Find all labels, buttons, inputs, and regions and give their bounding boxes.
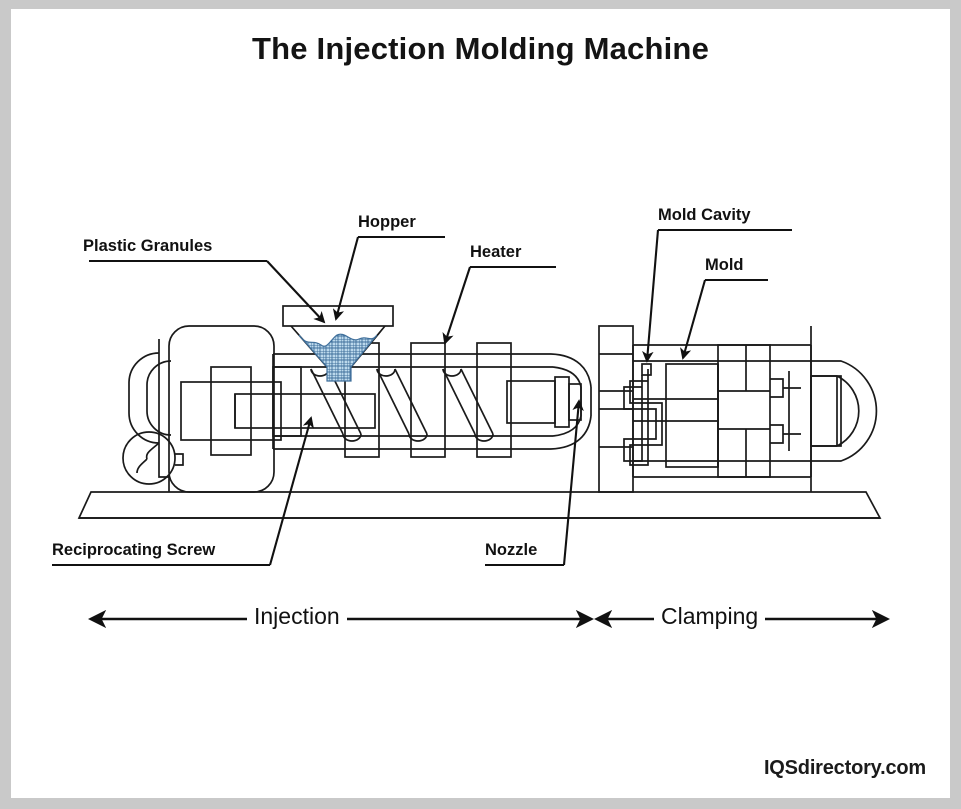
leader-heater — [445, 267, 556, 343]
mold-cavity-channel — [624, 364, 662, 465]
callout-label-mold: Mold — [705, 257, 744, 274]
platen-tie-frame — [633, 345, 811, 477]
leader-plastic-granules — [89, 261, 324, 322]
mold-block — [666, 364, 718, 467]
hydraulic-drive-housing — [159, 326, 274, 492]
heater-band-3 — [477, 343, 511, 457]
diagram-canvas: The Injection Molding Machine — [11, 9, 950, 798]
clamping-cylinder — [811, 326, 876, 492]
section-label-clamping: Clamping — [654, 605, 765, 628]
callout-label-nozzle: Nozzle — [485, 542, 537, 559]
callout-label-plastic-granules: Plastic Granules — [83, 238, 212, 255]
callout-label-reciprocating-screw: Reciprocating Screw — [52, 542, 215, 559]
hydraulic-cylinder — [129, 353, 171, 473]
plastic-granules-fill — [299, 334, 377, 381]
watermark: IQSdirectory.com — [764, 757, 926, 780]
screw-drive-coupling — [273, 367, 301, 436]
base-frame — [79, 492, 880, 518]
diagram-page: The Injection Molding Machine — [0, 0, 961, 809]
ejector-linkage — [770, 371, 801, 451]
injection-molding-machine-drawing — [11, 9, 950, 798]
leader-mold — [683, 280, 768, 358]
moving-platen — [718, 345, 770, 477]
heater-band-2 — [411, 343, 445, 457]
callout-label-heater: Heater — [470, 244, 521, 261]
callout-label-hopper: Hopper — [358, 214, 416, 231]
leader-mold-cavity — [647, 230, 792, 361]
hydraulic-motor — [123, 432, 183, 484]
section-label-injection: Injection — [247, 605, 347, 628]
callout-label-mold-cavity: Mold Cavity — [658, 207, 751, 224]
barrel — [273, 354, 591, 449]
